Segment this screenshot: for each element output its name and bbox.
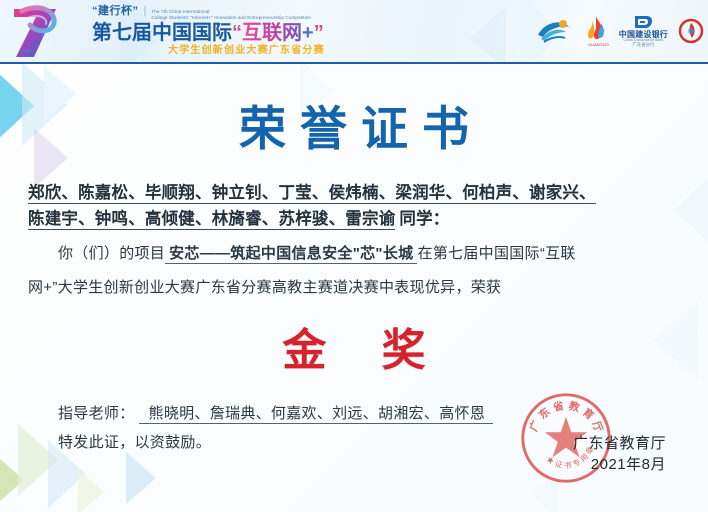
- competition-title-prefix: 第七届中国国际: [92, 22, 232, 44]
- issue-date: 2021年8月: [573, 454, 666, 476]
- citation-prefix: 你（们）的项目: [58, 245, 165, 262]
- ccb-branch: 广东省分行: [632, 43, 654, 47]
- svg-text:2021: 2021: [22, 48, 32, 53]
- issuer-name: 广东省教育厅: [573, 433, 666, 455]
- recipient-suffix: 同学：: [399, 209, 449, 228]
- advisor-label: 指导老师：: [58, 405, 135, 422]
- issuer-block: 广 东 省 教 育 厅 ★ 证 书 专 用 章 ★ 广东省教育厅 2021年8月: [510, 392, 670, 488]
- sponsor-logos: GUANGDONG 中国建设银行 China Construction Bank…: [535, 14, 704, 47]
- citation-paragraph-line1: 你（们）的项目安芯——筑起中国信息安全"芯"长城在第七届中国国际“互联: [28, 242, 680, 266]
- guangdong-education-emblem-icon: [535, 15, 573, 47]
- advisor-names: 熊晓明、詹瑞典、何嘉欢、刘远、胡湘宏、高怀恩: [139, 405, 494, 424]
- competition-subtitle: 大学生创新创业大赛广东省分赛: [168, 46, 325, 57]
- sponsor-cup-label: “建行杯”: [92, 6, 139, 18]
- header-english-subtitle: The 7th China International College Stud…: [151, 9, 311, 21]
- recipient-names-line1-text: 郑欣、陈嘉松、毕顺翔、钟立钊、丁莹、侯炜楠、梁润华、何柏声、谢家兴、: [28, 183, 596, 204]
- header-english-line1: The 7th China International: [151, 9, 209, 14]
- certificate-title: 荣誉证书: [28, 90, 680, 159]
- svg-text:GUANGDONG: GUANGDONG: [588, 42, 609, 47]
- competition-header-banner: 2021 “建行杯” | The 7th China International…: [0, 0, 708, 64]
- recipient-names: 郑欣、陈嘉松、毕顺翔、钟立钊、丁莹、侯炜楠、梁润华、何柏声、谢家兴、 陈建宇、钟…: [28, 181, 680, 232]
- citation-paragraph-line2: 网+”大学生创新创业大赛广东省分赛高教主赛道决赛中表现优异，荣获: [28, 276, 680, 300]
- partner-red-emblem-icon: [678, 18, 704, 44]
- header-title-block: “建行杯” | The 7th China International Coll…: [92, 6, 325, 57]
- competition-title-highlight: 互联网+: [242, 22, 314, 44]
- recipient-names-line2-text: 陈建宇、钟鸣、高倾健、林旖睿、苏梓骏、雷宗谕: [28, 209, 395, 230]
- citation-middle: 在第七届中国国际“互联: [417, 245, 575, 262]
- competition-main-title: 第七届中国国际“互联网+”: [92, 23, 325, 44]
- china-construction-bank-logo-icon: 中国建设银行 China Construction Bank 广东省分行: [619, 14, 668, 47]
- recipient-names-line2: 陈建宇、钟鸣、高倾健、林旖睿、苏梓骏、雷宗谕同学：: [28, 207, 680, 231]
- issuer-text-block: 广东省教育厅 2021年8月: [573, 433, 666, 477]
- quote-close: ”: [314, 22, 324, 44]
- competition-seven-logo-icon: 2021: [0, 0, 86, 63]
- award-level: 金 奖: [28, 314, 680, 378]
- header-divider: |: [144, 6, 147, 18]
- competition-flame-emblem-icon: GUANGDONG: [583, 15, 609, 47]
- header-english-line2: College Students' "Internet+" Innovation…: [151, 15, 311, 20]
- quote-open: “: [232, 22, 242, 44]
- decorative-triangle: [78, 470, 104, 512]
- decorative-triangle: [126, 452, 156, 504]
- certificate-page: 2021 “建行杯” | The 7th China International…: [0, 0, 708, 512]
- recipient-names-line1: 郑欣、陈嘉松、毕顺翔、钟立钊、丁莹、侯炜楠、梁润华、何柏声、谢家兴、: [28, 181, 680, 205]
- project-name: 安芯——筑起中国信息安全"芯"长城: [165, 245, 417, 264]
